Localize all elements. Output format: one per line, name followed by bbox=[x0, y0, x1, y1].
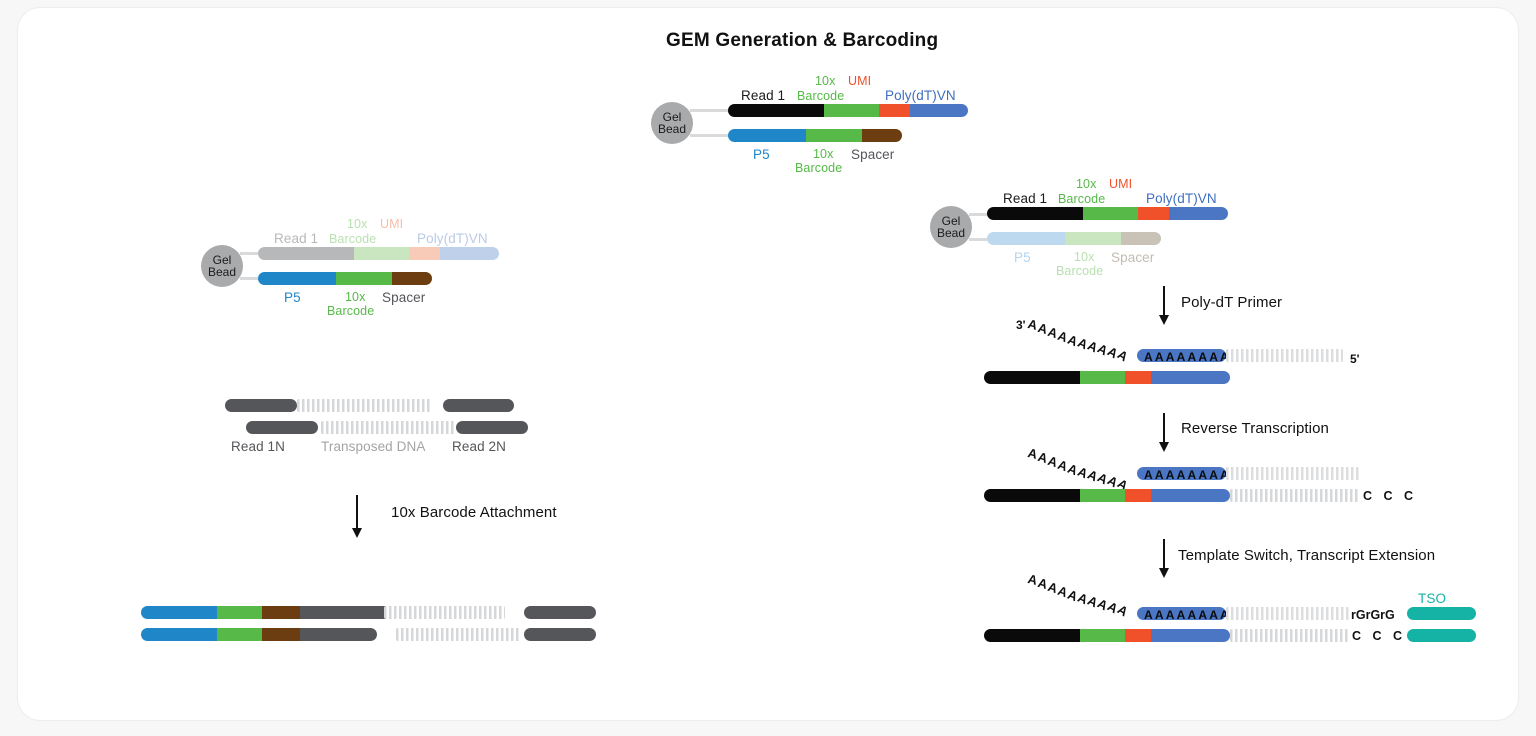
segment-polydt bbox=[1169, 207, 1228, 220]
strand-cdna-bottom-3 bbox=[984, 629, 1230, 642]
label-barcode-line2: Barcode bbox=[1058, 192, 1105, 206]
bead-connector-top bbox=[969, 213, 987, 216]
bead-connector-bottom bbox=[690, 134, 728, 137]
label-read1: Read 1 bbox=[741, 88, 785, 103]
label-10x-line1: 10x bbox=[1076, 177, 1096, 191]
label-spacer: Spacer bbox=[1111, 250, 1154, 265]
label-polydtvn: Poly(dT)VN bbox=[417, 231, 488, 246]
segment-barcode bbox=[1065, 232, 1121, 245]
strand-bottom-construct bbox=[258, 272, 432, 285]
label-poly-a-hybrid: AAAAAAAA bbox=[1144, 350, 1231, 364]
step-arrow bbox=[356, 495, 358, 529]
hatch-cdna-3 bbox=[1230, 629, 1349, 642]
segment-barcode bbox=[824, 104, 879, 117]
label-barcode-line2: Barcode bbox=[1056, 264, 1103, 278]
segment-p5 bbox=[141, 606, 217, 619]
label-transposed-dna: Transposed DNA bbox=[321, 439, 425, 454]
hatch-transposed-bottom bbox=[321, 421, 456, 434]
segment-read1 bbox=[728, 104, 824, 117]
diagram-card: GEM Generation & Barcoding Gel Bead Read… bbox=[18, 8, 1518, 720]
strand-bottom-construct-faded bbox=[987, 232, 1161, 245]
segment-spacer bbox=[262, 628, 300, 641]
strand-tso-top bbox=[1407, 607, 1476, 620]
segment-polydt bbox=[1151, 629, 1230, 642]
segment-read2n bbox=[443, 399, 514, 412]
strand-read2n-top bbox=[443, 399, 514, 412]
label-umi: UMI bbox=[848, 74, 871, 88]
step-label-template-switch: Template Switch, Transcript Extension bbox=[1178, 547, 1435, 564]
label-10x-line1: 10x bbox=[813, 147, 833, 161]
label-read1: Read 1 bbox=[274, 231, 318, 246]
label-barcode-line2: Barcode bbox=[797, 89, 844, 103]
strand-bottom-construct bbox=[728, 129, 902, 142]
segment-spacer bbox=[392, 272, 432, 285]
segment-barcode bbox=[217, 606, 262, 619]
segment-barcode bbox=[1080, 629, 1125, 642]
segment-read1n bbox=[246, 421, 318, 434]
segment-read1n bbox=[300, 628, 377, 641]
poly-a-tail-3: A A A A A A A A A A bbox=[1028, 569, 1138, 615]
segment-tso bbox=[1407, 629, 1476, 642]
label-5-prime: 5' bbox=[1350, 352, 1360, 366]
segment-spacer bbox=[862, 129, 902, 142]
hatch-mrna-3 bbox=[1226, 607, 1349, 620]
segment-barcode bbox=[217, 628, 262, 641]
segment-p5 bbox=[987, 232, 1065, 245]
label-umi: UMI bbox=[380, 217, 403, 231]
label-ccc: C C C bbox=[1352, 629, 1406, 643]
segment-barcode bbox=[354, 247, 409, 260]
label-barcode-line2: Barcode bbox=[327, 304, 374, 318]
label-poly-a-hybrid: AAAAAAAA bbox=[1144, 608, 1231, 622]
segment-read2n bbox=[456, 421, 528, 434]
gel-bead-line2: Bead bbox=[937, 227, 965, 239]
segment-barcode bbox=[336, 272, 392, 285]
segment-umi bbox=[1125, 489, 1151, 502]
segment-polydt bbox=[910, 104, 968, 117]
segment-umi bbox=[879, 104, 910, 117]
bead-connector-top bbox=[690, 109, 728, 112]
segment-read1 bbox=[984, 371, 1080, 384]
step-label-rt: Reverse Transcription bbox=[1181, 420, 1329, 437]
label-polydtvn: Poly(dT)VN bbox=[885, 88, 956, 103]
strand-top-construct bbox=[987, 207, 1228, 220]
segment-barcode bbox=[1080, 371, 1125, 384]
segment-tso bbox=[1407, 607, 1476, 620]
poly-a-tail-2: A A A A A A A A A A bbox=[1028, 443, 1138, 489]
label-read2n: Read 2N bbox=[452, 439, 506, 454]
label-10x-line1: 10x bbox=[347, 217, 367, 231]
label-p5: P5 bbox=[753, 147, 770, 162]
gel-bead-line2: Bead bbox=[208, 266, 236, 278]
gel-bead-line2: Bead bbox=[658, 123, 686, 135]
label-umi: UMI bbox=[1109, 177, 1132, 191]
segment-polydt bbox=[440, 247, 499, 260]
segment-spacer bbox=[1121, 232, 1161, 245]
segment-read1 bbox=[984, 629, 1080, 642]
hatch-mrna-1 bbox=[1226, 349, 1343, 362]
gel-bead: Gel Bead bbox=[201, 245, 243, 287]
label-read1n: Read 1N bbox=[231, 439, 285, 454]
step-label: 10x Barcode Attachment bbox=[391, 504, 557, 521]
gel-bead: Gel Bead bbox=[930, 206, 972, 248]
segment-read2n bbox=[524, 606, 596, 619]
segment-barcode bbox=[1083, 207, 1138, 220]
strand-read2n-bottom bbox=[456, 421, 528, 434]
segment-read1 bbox=[258, 247, 354, 260]
label-10x-line1: 10x bbox=[815, 74, 835, 88]
strand-top-construct bbox=[728, 104, 968, 117]
bead-connector-bottom bbox=[969, 238, 987, 241]
label-rgrgrg: rGrGrG bbox=[1351, 608, 1395, 622]
hatch-cdna-2 bbox=[1230, 489, 1359, 502]
hatch-mrna-2 bbox=[1226, 467, 1359, 480]
strand-cdna-bottom-2 bbox=[984, 489, 1230, 502]
label-p5: P5 bbox=[284, 290, 301, 305]
strand-read1n-top bbox=[225, 399, 297, 412]
hatch-transposed-top bbox=[297, 399, 432, 412]
label-tso: TSO bbox=[1418, 591, 1446, 606]
label-ccc: C C C bbox=[1363, 489, 1417, 503]
label-poly-a-hybrid: AAAAAAAA bbox=[1144, 468, 1231, 482]
bead-connector-top bbox=[240, 252, 258, 255]
step-arrow-poly-dt bbox=[1163, 286, 1165, 316]
label-p5: P5 bbox=[1014, 250, 1031, 265]
label-spacer: Spacer bbox=[382, 290, 425, 305]
segment-p5 bbox=[258, 272, 336, 285]
step-label-poly-dt: Poly-dT Primer bbox=[1181, 294, 1282, 311]
poly-a-tail-1: A A A A A A A A A A bbox=[1028, 314, 1138, 360]
page-title: GEM Generation & Barcoding bbox=[666, 30, 938, 52]
label-10x-line1: 10x bbox=[345, 290, 365, 304]
segment-p5 bbox=[141, 628, 217, 641]
hatch-insert-top bbox=[384, 606, 505, 619]
segment-umi bbox=[1138, 207, 1169, 220]
segment-barcode bbox=[1080, 489, 1125, 502]
label-10x-line1: 10x bbox=[1074, 250, 1094, 264]
hatch-insert-bottom bbox=[396, 628, 521, 641]
strand-top-construct-faded bbox=[258, 247, 499, 260]
segment-p5 bbox=[728, 129, 806, 142]
strand-product-bottom bbox=[141, 628, 377, 641]
diagram-canvas: GEM Generation & Barcoding Gel Bead Read… bbox=[0, 0, 1536, 736]
strand-primer-bottom-1 bbox=[984, 371, 1230, 384]
segment-barcode bbox=[806, 129, 862, 142]
label-read1: Read 1 bbox=[1003, 191, 1047, 206]
segment-umi bbox=[1125, 629, 1151, 642]
segment-umi bbox=[1125, 371, 1151, 384]
label-spacer: Spacer bbox=[851, 147, 894, 162]
strand-tso-bottom bbox=[1407, 629, 1476, 642]
strand-read1n-bottom bbox=[246, 421, 318, 434]
segment-read1 bbox=[984, 489, 1080, 502]
segment-read2n bbox=[524, 628, 596, 641]
label-barcode-line2: Barcode bbox=[329, 232, 376, 246]
bead-connector-bottom bbox=[240, 277, 258, 280]
segment-read1n bbox=[225, 399, 297, 412]
segment-read1 bbox=[987, 207, 1083, 220]
label-polydtvn: Poly(dT)VN bbox=[1146, 191, 1217, 206]
segment-spacer bbox=[262, 606, 300, 619]
step-arrow-template-switch bbox=[1163, 539, 1165, 569]
segment-polydt bbox=[1151, 489, 1230, 502]
label-3-prime: 3' bbox=[1016, 318, 1026, 332]
strand-read2n-bottom bbox=[524, 628, 596, 641]
label-barcode-line2: Barcode bbox=[795, 161, 842, 175]
strand-read2n-top bbox=[524, 606, 596, 619]
segment-umi bbox=[409, 247, 440, 260]
segment-polydt bbox=[1151, 371, 1230, 384]
step-arrow-rt bbox=[1163, 413, 1165, 443]
gel-bead: Gel Bead bbox=[651, 102, 693, 144]
